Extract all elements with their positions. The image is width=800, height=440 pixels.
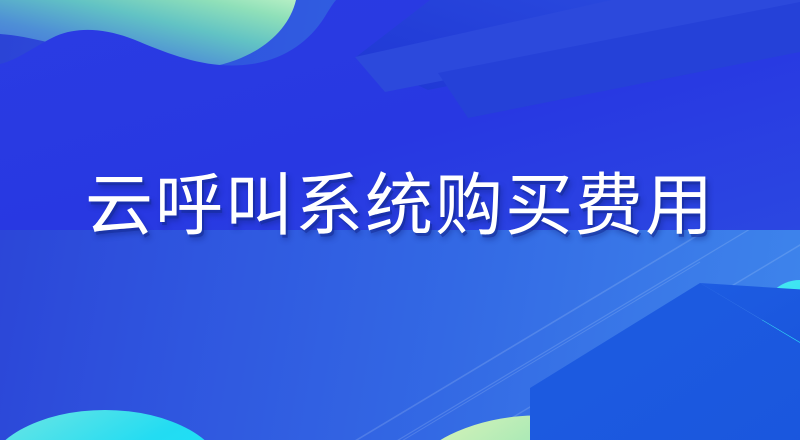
promo-banner: 云呼叫系统购买费用 [0,0,800,440]
background-decoration-layer [0,0,800,440]
bottom-left-cyan-blob [0,410,225,440]
